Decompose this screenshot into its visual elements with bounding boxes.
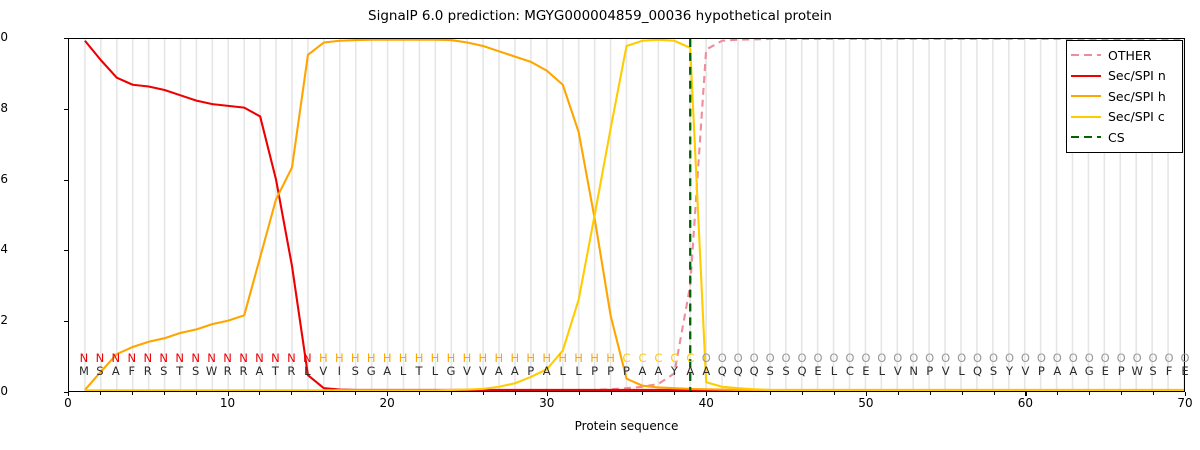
sequence-column: NR — [236, 352, 252, 378]
sequence-column: OP — [1113, 352, 1129, 378]
residue-char: E — [858, 365, 874, 378]
x-tick-minor — [962, 392, 963, 395]
sequence-column: OW — [1129, 352, 1145, 378]
sequence-column: OQ — [714, 352, 730, 378]
sequence-column: OA — [1065, 352, 1081, 378]
residue-char: L — [954, 365, 970, 378]
x-tick-mark — [228, 392, 229, 396]
x-tick-minor — [674, 392, 675, 395]
x-tick-minor — [100, 392, 101, 395]
sequence-column: NL — [299, 352, 315, 378]
x-tick-label: 10 — [208, 396, 248, 410]
sequence-column: ON — [906, 352, 922, 378]
x-tick-minor — [898, 392, 899, 395]
sequence-column: HG — [443, 352, 459, 378]
sequence-column: OP — [1033, 352, 1049, 378]
residue-char: P — [1033, 365, 1049, 378]
x-tick-minor — [1153, 392, 1154, 395]
x-tick-label: 70 — [1165, 396, 1200, 410]
residue-char: A — [1065, 365, 1081, 378]
legend-swatch — [1071, 111, 1101, 123]
residue-char: V — [890, 365, 906, 378]
residue-char: P — [922, 365, 938, 378]
residue-char: V — [315, 365, 331, 378]
sequence-column: OS — [762, 352, 778, 378]
x-tick-minor — [1089, 392, 1090, 395]
sequence-column: NR — [283, 352, 299, 378]
sequence-column: OV — [890, 352, 906, 378]
legend-item: OTHER — [1071, 45, 1178, 66]
residue-char: Q — [730, 365, 746, 378]
residue-char: R — [283, 365, 299, 378]
residue-char: S — [762, 365, 778, 378]
sequence-column: OQ — [746, 352, 762, 378]
residue-char: I — [331, 365, 347, 378]
residue-char: A — [682, 365, 698, 378]
sequence-column: OQ — [730, 352, 746, 378]
y-tick-label: 0.8 — [0, 101, 8, 115]
residue-char: A — [251, 365, 267, 378]
residue-char: V — [459, 365, 475, 378]
sequence-column: OE — [1097, 352, 1113, 378]
residue-char: G — [1081, 365, 1097, 378]
residue-char: Q — [714, 365, 730, 378]
residue-char: Q — [746, 365, 762, 378]
y-tick-label: 0.4 — [0, 242, 8, 256]
sequence-column: OE — [1177, 352, 1193, 378]
sequence-column: HL — [555, 352, 571, 378]
x-tick-minor — [579, 392, 580, 395]
x-tick-label: 20 — [367, 396, 407, 410]
residue-char: Q — [794, 365, 810, 378]
residue-char: L — [555, 365, 571, 378]
x-tick-label: 60 — [1005, 396, 1045, 410]
legend: OTHERSec/SPI nSec/SPI hSec/SPI cCS — [1066, 40, 1183, 153]
sequence-column: HL — [395, 352, 411, 378]
residue-char: M — [76, 365, 92, 378]
residue-char: Y — [1001, 365, 1017, 378]
sequence-column: HI — [331, 352, 347, 378]
x-tick-minor — [802, 392, 803, 395]
sequence-column: HV — [475, 352, 491, 378]
x-tick-mark — [1185, 392, 1186, 396]
residue-char: A — [491, 365, 507, 378]
curves-svg — [69, 39, 1184, 391]
sequence-column: CA — [682, 352, 698, 378]
residue-char: E — [1177, 365, 1193, 378]
residue-char: S — [1145, 365, 1161, 378]
y-tick-label: 0.6 — [0, 172, 8, 186]
residue-char: A — [698, 365, 714, 378]
residue-char: F — [124, 365, 140, 378]
legend-label: OTHER — [1108, 48, 1151, 63]
x-tick-minor — [642, 392, 643, 395]
residue-char: Y — [666, 365, 682, 378]
sequence-column: HG — [363, 352, 379, 378]
sequence-column: OS — [1145, 352, 1161, 378]
residue-char: R — [220, 365, 236, 378]
residue-char: S — [92, 365, 108, 378]
sequence-column: HS — [347, 352, 363, 378]
residue-char: S — [986, 365, 1002, 378]
legend-item: CS — [1071, 127, 1178, 148]
sequence-column: HP — [587, 352, 603, 378]
residue-char: V — [475, 365, 491, 378]
signalp-plot-figure: SignalP 6.0 prediction: MGYG000004859_00… — [0, 0, 1200, 450]
sequence-column: NS — [188, 352, 204, 378]
residue-char: V — [938, 365, 954, 378]
residue-char: S — [347, 365, 363, 378]
residue-char: A — [1049, 365, 1065, 378]
sequence-column: OA — [698, 352, 714, 378]
x-tick-mark — [68, 392, 69, 396]
sequence-column: OS — [778, 352, 794, 378]
residue-char: A — [634, 365, 650, 378]
residue-char: T — [411, 365, 427, 378]
x-tick-minor — [930, 392, 931, 395]
sequence-column: NM — [76, 352, 92, 378]
x-tick-minor — [164, 392, 165, 395]
sequence-column: OS — [986, 352, 1002, 378]
sequence-column: CY — [666, 352, 682, 378]
sequence-column: NF — [124, 352, 140, 378]
x-tick-label: 30 — [527, 396, 567, 410]
legend-label: Sec/SPI c — [1108, 109, 1165, 124]
residue-char: G — [363, 365, 379, 378]
x-tick-label: 0 — [48, 396, 88, 410]
residue-char: R — [236, 365, 252, 378]
sequence-column: HL — [571, 352, 587, 378]
residue-char: P — [619, 365, 635, 378]
sequence-column: HA — [539, 352, 555, 378]
sequence-column: OC — [842, 352, 858, 378]
page-title: SignalP 6.0 prediction: MGYG000004859_00… — [0, 8, 1200, 24]
sequence-column: OV — [938, 352, 954, 378]
y-tick-label: 0.2 — [0, 313, 8, 327]
x-tick-minor — [834, 392, 835, 395]
residue-char: L — [571, 365, 587, 378]
x-tick-mark — [866, 392, 867, 396]
legend-label: Sec/SPI n — [1108, 68, 1166, 83]
y-tick-label: 1.0 — [0, 30, 8, 44]
residue-char: A — [507, 365, 523, 378]
x-tick-minor — [994, 392, 995, 395]
residue-char: L — [395, 365, 411, 378]
residue-char: L — [874, 365, 890, 378]
sequence-column: HV — [315, 352, 331, 378]
x-tick-label: 50 — [846, 396, 886, 410]
sequence-column: HP — [603, 352, 619, 378]
residue-char: E — [810, 365, 826, 378]
sequence-column: OQ — [794, 352, 810, 378]
sequence-column: OL — [826, 352, 842, 378]
residue-char: A — [379, 365, 395, 378]
legend-swatch — [1071, 90, 1101, 102]
sequence-column: NA — [108, 352, 124, 378]
x-axis-label: Protein sequence — [68, 419, 1185, 433]
x-tick-minor — [291, 392, 292, 395]
x-tick-minor — [451, 392, 452, 395]
sequence-column: OG — [1081, 352, 1097, 378]
residue-char: W — [1129, 365, 1145, 378]
residue-char: F — [1161, 365, 1177, 378]
sequence-column: NR — [220, 352, 236, 378]
sequence-column: HL — [427, 352, 443, 378]
sequence-column: NT — [267, 352, 283, 378]
legend-label: CS — [1108, 130, 1125, 145]
sequence-column: NA — [251, 352, 267, 378]
sequence-column: HV — [459, 352, 475, 378]
residue-char: S — [156, 365, 172, 378]
sequence-column: OP — [922, 352, 938, 378]
residue-char: C — [842, 365, 858, 378]
sequence-column: HT — [411, 352, 427, 378]
legend-item: Sec/SPI h — [1071, 86, 1178, 107]
y-tick-label: 0.0 — [0, 384, 8, 398]
residue-char: P — [587, 365, 603, 378]
x-tick-minor — [770, 392, 771, 395]
sequence-column: CA — [650, 352, 666, 378]
x-tick-minor — [611, 392, 612, 395]
sequence-column: NW — [204, 352, 220, 378]
residue-char: R — [140, 365, 156, 378]
x-tick-mark — [1025, 392, 1026, 396]
x-tick-minor — [259, 392, 260, 395]
x-tick-minor — [1121, 392, 1122, 395]
x-tick-minor — [738, 392, 739, 395]
legend-swatch — [1071, 70, 1101, 82]
sequence-column: OV — [1017, 352, 1033, 378]
sequence-column: CA — [634, 352, 650, 378]
residue-char: L — [299, 365, 315, 378]
sequence-column: NT — [172, 352, 188, 378]
sequence-column: HP — [523, 352, 539, 378]
sequence-column: OA — [1049, 352, 1065, 378]
sequence-column: OQ — [970, 352, 986, 378]
legend-swatch — [1071, 49, 1101, 61]
x-tick-mark — [547, 392, 548, 396]
residue-char: T — [267, 365, 283, 378]
sequence-column: NR — [140, 352, 156, 378]
residue-char: P — [603, 365, 619, 378]
x-tick-minor — [355, 392, 356, 395]
sequence-column: OE — [810, 352, 826, 378]
residue-char: V — [1017, 365, 1033, 378]
residue-char: A — [108, 365, 124, 378]
residue-char: N — [906, 365, 922, 378]
sequence-column: OE — [858, 352, 874, 378]
sequence-column: OY — [1001, 352, 1017, 378]
x-tick-label: 40 — [686, 396, 726, 410]
x-tick-minor — [419, 392, 420, 395]
legend-label: Sec/SPI h — [1108, 89, 1166, 104]
sequence-column: CP — [619, 352, 635, 378]
sequence-column: HA — [379, 352, 395, 378]
x-tick-minor — [515, 392, 516, 395]
sequence-column: OL — [954, 352, 970, 378]
sequence-column: HA — [507, 352, 523, 378]
residue-char: Q — [970, 365, 986, 378]
x-tick-minor — [323, 392, 324, 395]
residue-char: A — [650, 365, 666, 378]
residue-char: S — [188, 365, 204, 378]
residue-char: L — [826, 365, 842, 378]
sequence-column: HA — [491, 352, 507, 378]
legend-item: Sec/SPI c — [1071, 107, 1178, 128]
legend-item: Sec/SPI n — [1071, 66, 1178, 87]
residue-char: A — [539, 365, 555, 378]
residue-char: G — [443, 365, 459, 378]
sequence-column: NS — [156, 352, 172, 378]
sequence-column: NS — [92, 352, 108, 378]
x-tick-minor — [132, 392, 133, 395]
legend-swatch — [1071, 131, 1101, 143]
x-tick-mark — [387, 392, 388, 396]
residue-char: L — [427, 365, 443, 378]
residue-char: T — [172, 365, 188, 378]
residue-char: S — [778, 365, 794, 378]
sequence-column: OF — [1161, 352, 1177, 378]
residue-char: W — [204, 365, 220, 378]
x-tick-minor — [483, 392, 484, 395]
x-tick-mark — [706, 392, 707, 396]
residue-char: P — [523, 365, 539, 378]
x-tick-minor — [1057, 392, 1058, 395]
sequence-column: OL — [874, 352, 890, 378]
x-tick-minor — [196, 392, 197, 395]
residue-char: E — [1097, 365, 1113, 378]
residue-char: P — [1113, 365, 1129, 378]
plot-area — [68, 38, 1185, 392]
